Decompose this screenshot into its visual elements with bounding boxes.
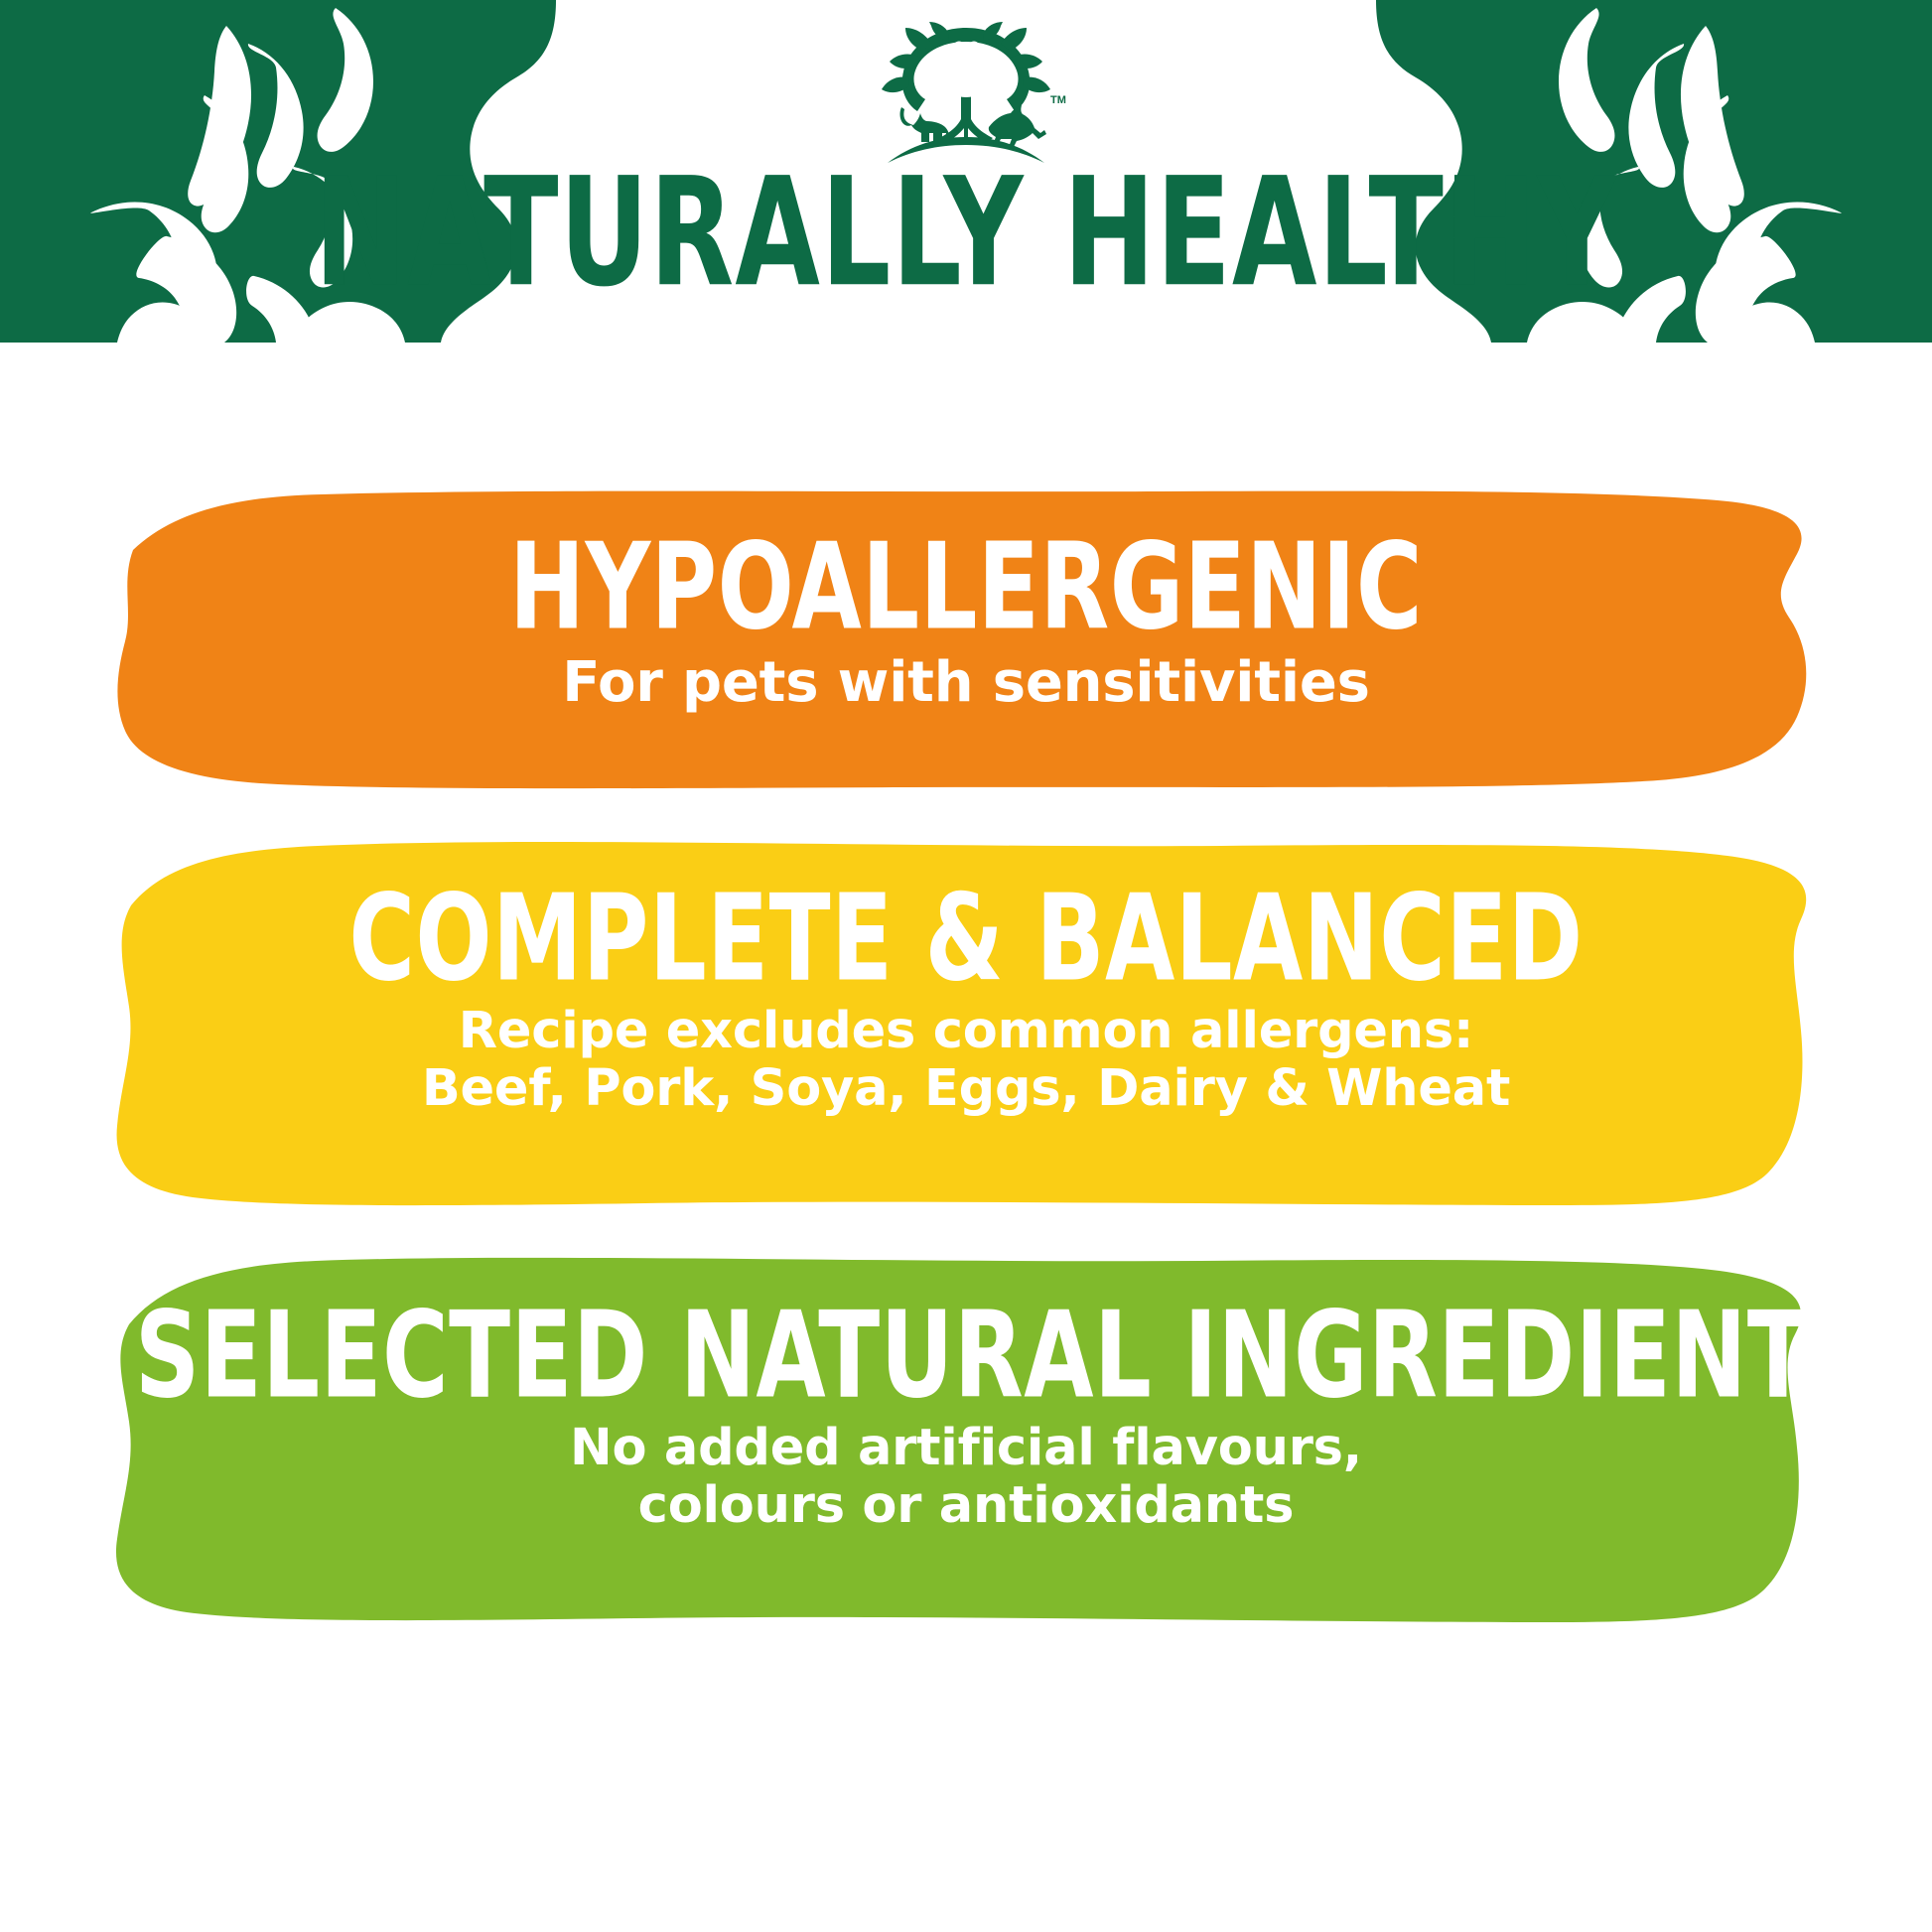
banner-subtitle-line: Recipe excludes common allergens: (109, 1003, 1823, 1060)
banner-content: SELECTED NATURAL INGREDIENTS No added ar… (109, 1253, 1823, 1535)
banner-subtitle-line: For pets with sensitivities (109, 651, 1823, 715)
banner-subtitle-line: colours or antioxidants (109, 1477, 1823, 1535)
feature-banner-selected-ingredients: SELECTED NATURAL INGREDIENTS No added ar… (109, 1253, 1823, 1628)
feature-banner-hypoallergenic: HYPOALLERGENIC For pets with sensitiviti… (109, 486, 1823, 794)
page-title: NATURALLY HEALTHY (39, 159, 1893, 309)
banner-subtitle-line: No added artificial flavours, (109, 1420, 1823, 1477)
banner-content: HYPOALLERGENIC For pets with sensitiviti… (109, 486, 1823, 715)
banner-title: HYPOALLERGENIC (135, 530, 1797, 645)
banner-content: COMPLETE & BALANCED Recipe excludes comm… (109, 836, 1823, 1118)
banner-subtitle: No added artificial flavours, colours or… (109, 1420, 1823, 1535)
banner-title: COMPLETE & BALANCED (135, 882, 1797, 997)
header: TM NATURALLY HEALTHY (0, 0, 1932, 347)
banner-subtitle: Recipe excludes common allergens: Beef, … (109, 1003, 1823, 1118)
trademark-symbol: TM (1050, 94, 1066, 106)
feature-banner-list: HYPOALLERGENIC For pets with sensitiviti… (0, 486, 1932, 1628)
poster-canvas: TM NATURALLY HEALTHY HYPOALLERGENIC For … (0, 0, 1932, 1932)
feature-banner-complete-balanced: COMPLETE & BALANCED Recipe excludes comm… (109, 836, 1823, 1211)
banner-subtitle: For pets with sensitivities (109, 651, 1823, 715)
banner-title: SELECTED NATURAL INGREDIENTS (135, 1299, 1797, 1414)
banner-subtitle-line: Beef, Pork, Soya, Eggs, Dairy & Wheat (109, 1060, 1823, 1118)
